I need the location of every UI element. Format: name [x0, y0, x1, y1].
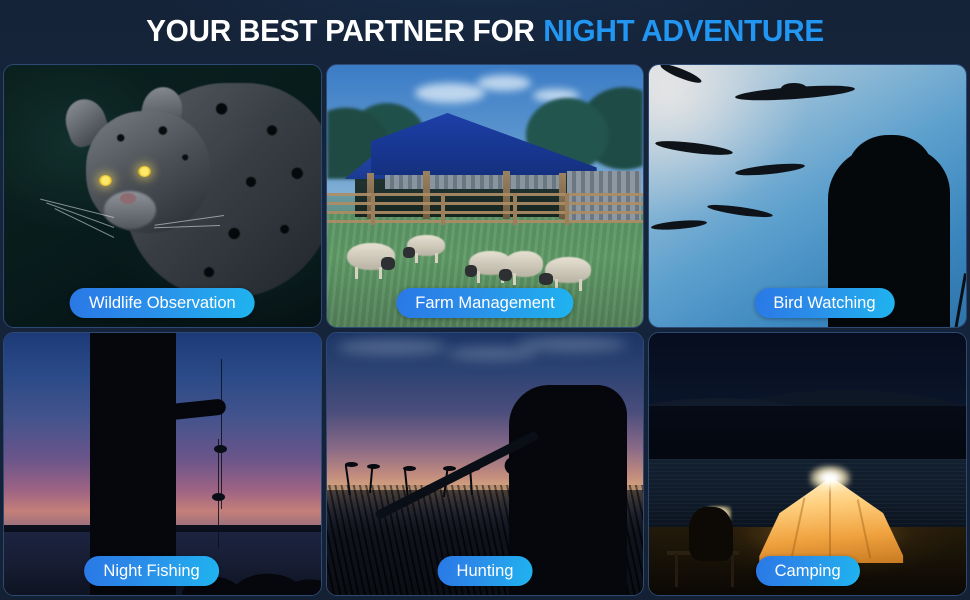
- fence-post: [513, 193, 517, 225]
- sheep-head: [465, 265, 477, 277]
- ocelot-nose: [120, 193, 136, 204]
- sheep-leg: [415, 253, 418, 263]
- scenario-card-farm-management[interactable]: Farm Management: [326, 64, 645, 328]
- bird-silhouette: [651, 219, 707, 232]
- scenario-card-camping[interactable]: Camping: [648, 332, 967, 596]
- headline-plain-text: YOUR BEST PARTNER FOR: [146, 13, 535, 49]
- sheep-leg: [579, 279, 582, 291]
- reed-head: [345, 462, 358, 467]
- scenario-card-hunting[interactable]: Hunting: [326, 332, 645, 596]
- scenario-card-night-fishing[interactable]: Night Fishing: [3, 332, 322, 596]
- sheep-leg: [355, 267, 358, 279]
- fence-post: [565, 193, 569, 225]
- sky-haze: [649, 65, 801, 212]
- hunter-head: [535, 397, 591, 447]
- sheep-leg: [477, 271, 480, 283]
- camper-silhouette: [689, 507, 733, 561]
- ocelot-eye-left-icon: [99, 175, 112, 186]
- sheep-head: [539, 273, 553, 285]
- scenario-card-bird-watching[interactable]: Bird Watching: [648, 64, 967, 328]
- reed-head: [403, 466, 416, 471]
- ocelot-eye-right-icon: [138, 166, 151, 177]
- sheep-head: [499, 269, 512, 281]
- camp-table-leg: [731, 553, 734, 587]
- fence-post: [371, 193, 375, 225]
- fishing-lure: [212, 493, 225, 501]
- fence-post: [441, 193, 445, 225]
- headline-accent-text: NIGHT ADVENTURE: [543, 13, 824, 49]
- sheep-head: [403, 247, 415, 258]
- binocular-strap: [954, 273, 966, 327]
- night-adventure-banner: YOUR BEST PARTNER FOR NIGHT ADVENTURE Wi…: [0, 0, 970, 600]
- scenario-card-wildlife-observation[interactable]: Wildlife Observation: [3, 64, 322, 328]
- sheep-leg: [435, 253, 438, 263]
- fishing-lure: [214, 445, 227, 453]
- sheep-head: [381, 257, 395, 270]
- card-label-bird-watching[interactable]: Bird Watching: [754, 288, 894, 318]
- reed-head: [443, 466, 456, 471]
- card-label-hunting[interactable]: Hunting: [438, 556, 533, 586]
- card-label-camping[interactable]: Camping: [756, 556, 860, 586]
- birdwatcher-arm: [832, 183, 878, 233]
- scenario-card-grid: Wildlife Observation: [3, 64, 967, 596]
- cloud: [337, 339, 447, 355]
- cloud: [447, 347, 537, 360]
- card-label-farm-management[interactable]: Farm Management: [396, 288, 573, 318]
- card-label-wildlife-observation[interactable]: Wildlife Observation: [70, 288, 255, 318]
- card-label-night-fishing[interactable]: Night Fishing: [84, 556, 218, 586]
- page-title: YOUR BEST PARTNER FOR NIGHT ADVENTURE: [19, 0, 950, 62]
- camp-table-leg: [675, 553, 678, 587]
- sheep-leg: [379, 267, 382, 279]
- sheep-leg: [513, 273, 516, 285]
- cloud: [517, 337, 627, 352]
- fishing-line: [221, 359, 222, 509]
- dark-ridge: [649, 406, 966, 464]
- reed-head: [367, 464, 380, 469]
- tent-light-glow: [809, 465, 851, 491]
- tent-seam: [829, 481, 831, 559]
